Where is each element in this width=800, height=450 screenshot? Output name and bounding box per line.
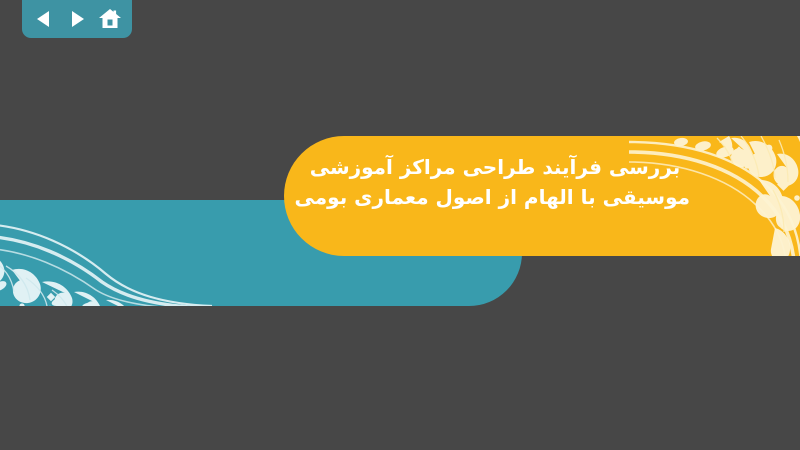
slide-title-line-2: موسیقی با الهام از اصول معماری بومی — [300, 182, 690, 212]
next-slide-button[interactable] — [64, 6, 90, 32]
slide-title: بررسی فرآیند طراحی مراکز آموزشی موسیقی ب… — [300, 152, 690, 212]
previous-slide-button[interactable] — [31, 6, 57, 32]
back-triangle-icon — [34, 9, 54, 29]
slide-navigation-toolbar — [22, 0, 132, 38]
presentation-slide: بررسی فرآیند طراحی مراکز آموزشی موسیقی ب… — [0, 0, 800, 450]
home-icon — [98, 8, 122, 30]
slide-title-line-1: بررسی فرآیند طراحی مراکز آموزشی — [300, 152, 690, 182]
forward-triangle-icon — [67, 9, 87, 29]
home-button[interactable] — [97, 6, 123, 32]
teal-arabesque-ornament — [0, 200, 212, 306]
